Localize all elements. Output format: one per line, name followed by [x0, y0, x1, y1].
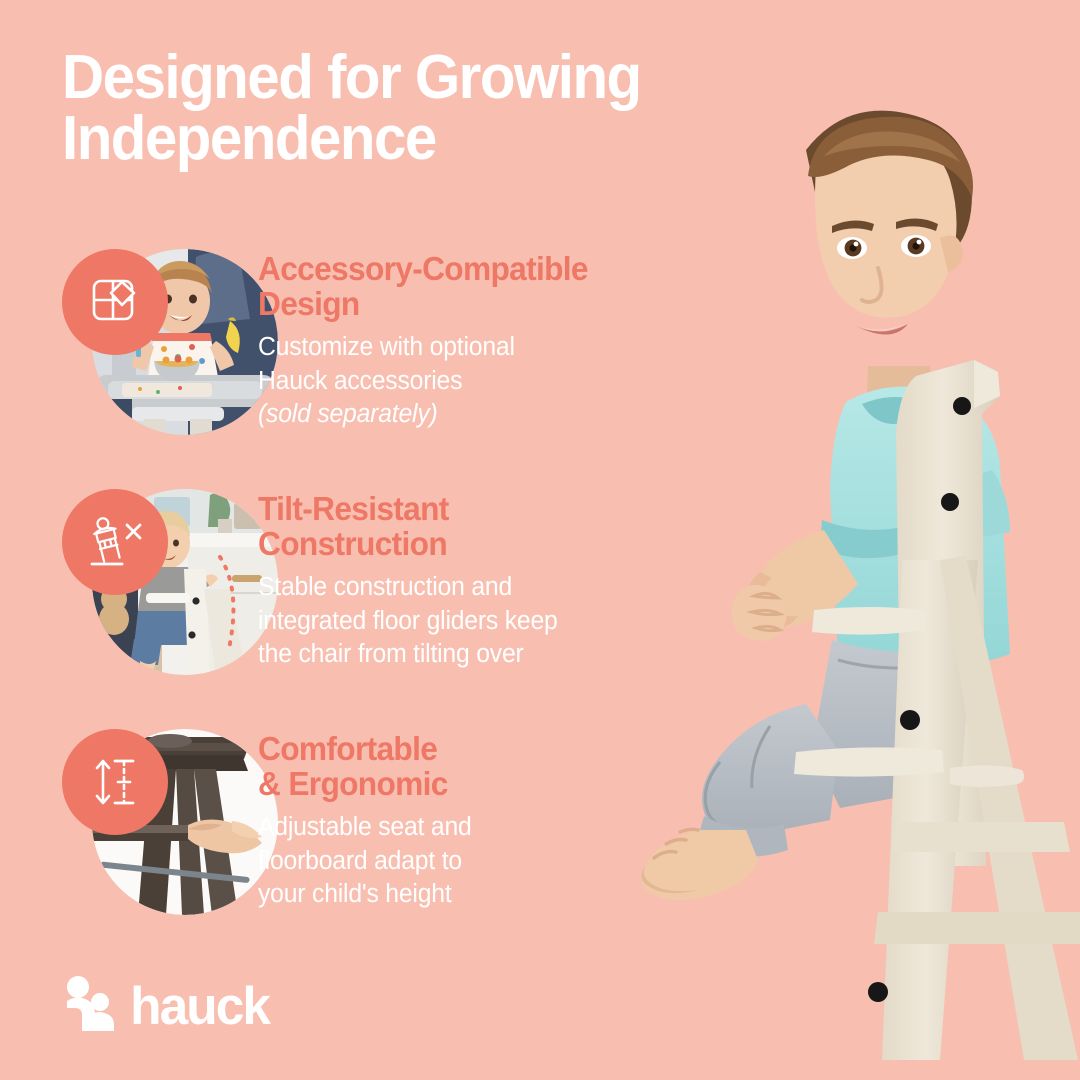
feature-title: Accessory-Compatible Design [258, 251, 661, 322]
feature-body-line-3: (sold separately) [258, 398, 665, 432]
feature-item-comfortable-ergonomic: Comfortable & Ergonomic Adjustable seat … [0, 723, 680, 963]
feature-body-line-1: Stable construction and [258, 571, 665, 605]
feature-body-line-2: floorboard adapt to [258, 845, 665, 879]
feature-body: Adjustable seat and floorboard adapt to … [258, 811, 665, 913]
page-title: Designed for Growing Independence [62, 48, 748, 170]
accessory-modular-icon [88, 275, 142, 329]
feature-item-tilt-resistant: Tilt-Resistant Construction Stable const… [0, 483, 680, 723]
no-tilt-chair-icon [86, 514, 144, 570]
feature-body: Customize with optional Hauck accessorie… [258, 331, 665, 433]
feature-icon-badge-tilt [62, 489, 168, 595]
feature-title-line-1: Accessory-Compatible [258, 251, 661, 286]
feature-icon-badge-accessory [62, 249, 168, 355]
feature-body-line-2: integrated floor gliders keep [258, 605, 665, 639]
feature-text-tilt: Tilt-Resistant Construction Stable const… [258, 491, 678, 672]
height-adjust-icon [89, 754, 141, 810]
feature-text-ergonomic: Comfortable & Ergonomic Adjustable seat … [258, 731, 678, 912]
feature-title-line-1: Comfortable [258, 731, 661, 766]
feature-title-line-1: Tilt-Resistant [258, 491, 661, 526]
feature-title-line-2: Design [258, 286, 661, 321]
feature-list: Accessory-Compatible Design Customize wi… [0, 243, 680, 963]
feature-body-line-1: Customize with optional [258, 331, 665, 365]
brand-wordmark: hauck [130, 980, 269, 1033]
brand-logo: hauck [62, 975, 271, 1038]
feature-body-line-2: Hauck accessories [258, 365, 665, 399]
feature-body-line-1: Adjustable seat and [258, 811, 665, 845]
feature-body: Stable construction and integrated floor… [258, 571, 665, 673]
feature-body-line-3: the chair from tilting over [258, 638, 665, 672]
feature-item-accessory-compatible: Accessory-Compatible Design Customize wi… [0, 243, 680, 483]
feature-title: Tilt-Resistant Construction [258, 491, 661, 562]
feature-body-line-3: your child's height [258, 878, 665, 912]
feature-icon-badge-height [62, 729, 168, 835]
feature-title-line-2: Construction [258, 526, 661, 561]
page-title-line-1: Designed for Growing [62, 48, 748, 109]
hauck-parent-child-logo-icon [62, 975, 118, 1038]
feature-title-line-2: & Ergonomic [258, 766, 661, 801]
page-title-line-2: Independence [62, 109, 748, 170]
feature-text-accessory: Accessory-Compatible Design Customize wi… [258, 251, 678, 432]
feature-title: Comfortable & Ergonomic [258, 731, 661, 802]
